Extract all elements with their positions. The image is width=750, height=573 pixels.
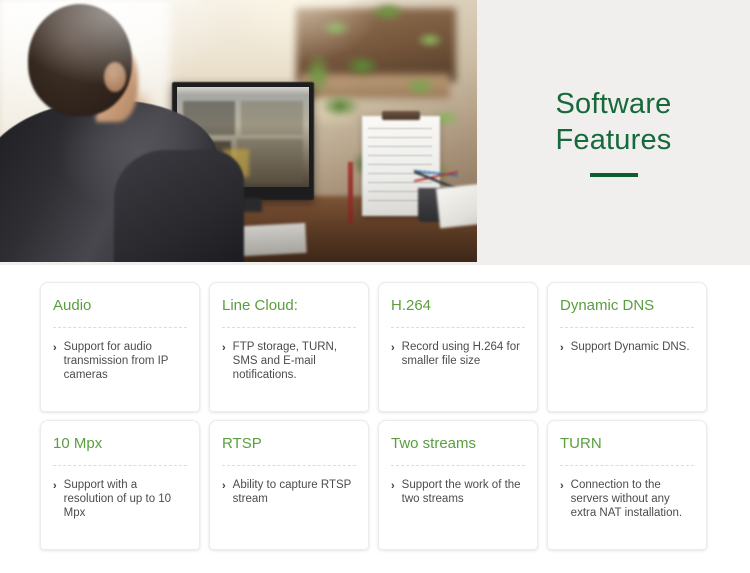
title-underline <box>590 173 638 177</box>
feature-card-title: Audio <box>53 297 187 315</box>
feature-card-text: Record using H.264 for smaller file size <box>402 340 525 368</box>
feature-card-grid: Audio › Support for audio transmission f… <box>40 282 712 550</box>
hero-section: Software Features <box>0 0 750 265</box>
feature-card-text: Support Dynamic DNS. <box>571 340 690 355</box>
feature-card-text: Support the work of the two streams <box>402 478 525 506</box>
feature-card-item: › Support the work of the two streams <box>391 478 525 506</box>
page-title-line-2: Features <box>555 124 671 156</box>
feature-card-title: H.264 <box>391 297 525 315</box>
feature-card-title: Line Cloud: <box>222 297 356 315</box>
hero-title-panel: Software Features <box>477 0 750 265</box>
feature-card-divider <box>560 465 694 466</box>
feature-card-rtsp[interactable]: RTSP › Ability to capture RTSP stream <box>209 420 369 550</box>
feature-card-item: › Ability to capture RTSP stream <box>222 478 356 506</box>
photo-person-ear <box>104 62 126 92</box>
feature-card-divider <box>560 327 694 328</box>
feature-card-title: Dynamic DNS <box>560 297 694 315</box>
feature-card-text: FTP storage, TURN, SMS and E-mail notifi… <box>233 340 356 382</box>
feature-card-text: Support with a resolution of up to 10 Mp… <box>64 478 187 520</box>
photo-person-head <box>28 4 132 116</box>
feature-card-item: › Record using H.264 for smaller file si… <box>391 340 525 368</box>
feature-card-item: › Support with a resolution of up to 10 … <box>53 478 187 520</box>
photo-person-shoulder <box>114 150 244 262</box>
feature-card-divider <box>391 327 525 328</box>
page-title-line-1: Software <box>555 88 671 120</box>
page-title: Software Features <box>555 86 671 159</box>
feature-card-divider <box>222 465 356 466</box>
feature-card-title: RTSP <box>222 435 356 453</box>
software-features-page: Software Features Audio › Support for au… <box>0 0 750 573</box>
photo-screen-tile <box>241 101 303 135</box>
chevron-right-icon: › <box>53 340 57 382</box>
feature-card-divider <box>391 465 525 466</box>
photo-red-pen <box>348 162 353 224</box>
feature-card-text: Connection to the servers without any ex… <box>571 478 694 520</box>
feature-card-audio[interactable]: Audio › Support for audio transmission f… <box>40 282 200 412</box>
feature-card-title: 10 Mpx <box>53 435 187 453</box>
feature-card-h264[interactable]: H.264 › Record using H.264 for smaller f… <box>378 282 538 412</box>
feature-card-title: Two streams <box>391 435 525 453</box>
feature-card-item: › Support Dynamic DNS. <box>560 340 694 355</box>
feature-card-turn[interactable]: TURN › Connection to the servers without… <box>547 420 707 550</box>
feature-card-divider <box>53 465 187 466</box>
chevron-right-icon: › <box>560 478 564 520</box>
photo-clipboard-clip <box>382 111 420 120</box>
photo-papers <box>436 184 477 229</box>
feature-card-item: › FTP storage, TURN, SMS and E-mail noti… <box>222 340 356 382</box>
feature-card-item: › Connection to the servers without any … <box>560 478 694 520</box>
chevron-right-icon: › <box>391 340 395 368</box>
feature-card-dynamic-dns[interactable]: Dynamic DNS › Support Dynamic DNS. <box>547 282 707 412</box>
feature-card-item: › Support for audio transmission from IP… <box>53 340 187 382</box>
feature-card-divider <box>53 327 187 328</box>
chevron-right-icon: › <box>222 478 226 506</box>
feature-card-10-mpx[interactable]: 10 Mpx › Support with a resolution of up… <box>40 420 200 550</box>
hero-photo <box>0 0 477 262</box>
feature-card-text: Support for audio transmission from IP c… <box>64 340 187 382</box>
feature-card-two-streams[interactable]: Two streams › Support the work of the tw… <box>378 420 538 550</box>
chevron-right-icon: › <box>53 478 57 520</box>
feature-card-text: Ability to capture RTSP stream <box>233 478 356 506</box>
photo-screen-toolbar <box>177 87 309 95</box>
chevron-right-icon: › <box>222 340 226 382</box>
feature-card-divider <box>222 327 356 328</box>
feature-card-line-cloud[interactable]: Line Cloud: › FTP storage, TURN, SMS and… <box>209 282 369 412</box>
chevron-right-icon: › <box>391 478 395 506</box>
feature-card-title: TURN <box>560 435 694 453</box>
chevron-right-icon: › <box>560 340 564 355</box>
